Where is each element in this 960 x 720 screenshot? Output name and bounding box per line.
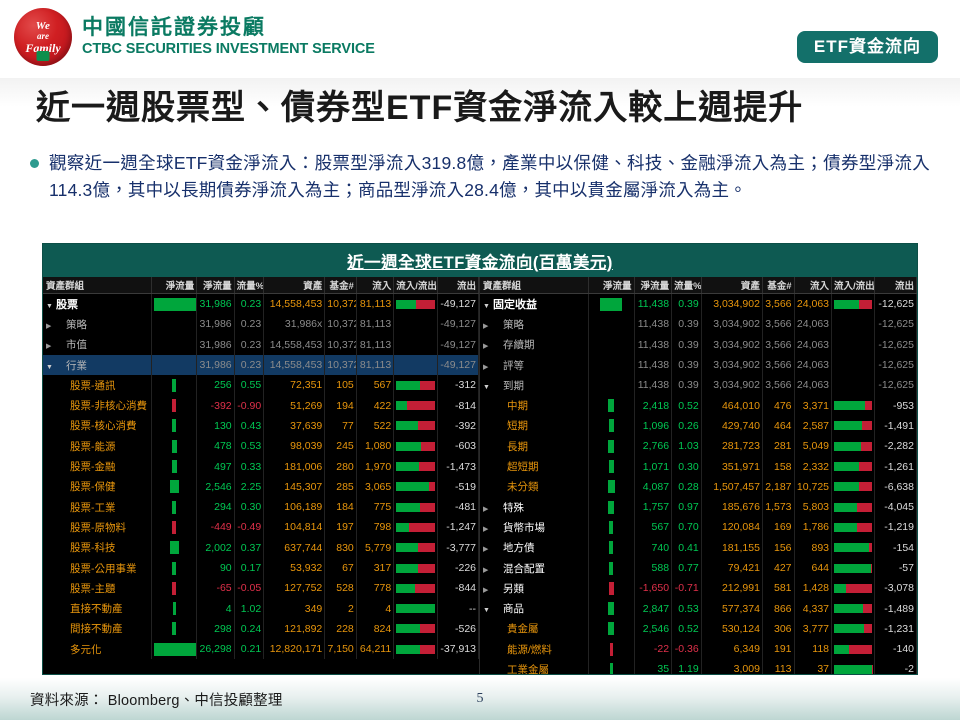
net-flow-sparkbar-cell bbox=[151, 314, 196, 334]
fund-count-value: 184 bbox=[325, 497, 357, 517]
net-flow-value: 4 bbox=[197, 598, 234, 618]
net-flow-bar bbox=[608, 501, 614, 514]
row-label-cell[interactable]: ▶存續期 bbox=[480, 335, 589, 355]
inflow-value: 24,063 bbox=[794, 355, 832, 375]
inflow-outflow-bar-cell bbox=[832, 477, 875, 497]
flow-pct-value: 0.77 bbox=[672, 558, 702, 578]
chevron-right-icon[interactable]: ▶ bbox=[46, 322, 54, 330]
fund-count-value: 10,372 bbox=[325, 335, 357, 355]
chevron-right-icon[interactable]: ▶ bbox=[483, 322, 491, 330]
row-label-cell[interactable]: 股票-公用事業 bbox=[43, 558, 151, 578]
row-label-cell[interactable]: ▶策略 bbox=[43, 314, 151, 334]
net-flow-value: 2,546 bbox=[197, 477, 234, 497]
flow-pct-value: 0.41 bbox=[672, 538, 702, 558]
inflow-outflow-bar-cell bbox=[832, 578, 875, 598]
net-flow-value: 90 bbox=[197, 558, 234, 578]
inflow-outflow-bar bbox=[834, 482, 872, 491]
inflow-segment bbox=[396, 381, 420, 390]
net-flow-sparkbar-cell bbox=[151, 335, 196, 355]
row-label: 商品 bbox=[491, 601, 524, 616]
table-row[interactable]: 短期1,0960.26429,7404642,587-1,491 bbox=[480, 416, 917, 436]
outflow-segment bbox=[415, 584, 435, 593]
outflow-value: -226 bbox=[437, 558, 478, 578]
flow-pct-value: 0.26 bbox=[672, 416, 702, 436]
row-label-cell[interactable]: 多元化 bbox=[43, 639, 151, 659]
column-header-3[interactable]: 流量% bbox=[672, 277, 702, 294]
flow-pct-value: 0.33 bbox=[234, 456, 264, 476]
fund-count-value: 427 bbox=[762, 558, 794, 578]
table-row[interactable]: 股票-保健2,5462.25145,3072853,065-519 bbox=[43, 477, 479, 497]
row-label: 短期 bbox=[483, 418, 528, 433]
table-row[interactable]: 中期2,4180.52464,0104763,371-953 bbox=[480, 395, 917, 415]
flow-pct-value: 0.37 bbox=[234, 538, 264, 558]
net-flow-bar bbox=[609, 562, 613, 575]
net-flow-sparkbar-cell bbox=[589, 578, 634, 598]
row-label-cell[interactable]: 股票-非核心消費 bbox=[43, 395, 151, 415]
net-flow-sparkbar-cell bbox=[589, 659, 634, 675]
flow-pct-value: 0.17 bbox=[234, 558, 264, 578]
column-header-1[interactable]: 淨流量 bbox=[589, 277, 634, 294]
inflow-segment bbox=[834, 523, 857, 532]
chevron-right-icon[interactable]: ▶ bbox=[46, 342, 54, 350]
outflow-value: -6,638 bbox=[875, 477, 917, 497]
table-row[interactable]: ▶另類-1,650-0.71212,9915811,428-3,078 bbox=[480, 578, 917, 598]
net-flow-value: 11,438 bbox=[634, 375, 672, 395]
column-header-5[interactable]: 基金# bbox=[762, 277, 794, 294]
column-header-4[interactable]: 資產 bbox=[701, 277, 762, 294]
chevron-right-icon[interactable]: ▶ bbox=[483, 342, 491, 350]
table-row[interactable]: 股票-科技2,0020.37637,7448305,779-3,777 bbox=[43, 538, 479, 558]
fund-count-value: 1,573 bbox=[762, 497, 794, 517]
row-label-cell[interactable]: ▶特殊 bbox=[480, 497, 589, 517]
assets-value: 577,374 bbox=[701, 598, 762, 618]
inflow-outflow-bar-cell bbox=[832, 355, 875, 375]
row-label-cell[interactable]: 未分類 bbox=[480, 477, 589, 497]
row-label: 間接不動產 bbox=[46, 621, 123, 636]
inflow-value: 5,779 bbox=[356, 538, 393, 558]
table-row[interactable]: 能源/燃料-22-0.366,349191118-140 bbox=[480, 639, 917, 659]
table-row[interactable]: 超短期1,0710.30351,9711582,332-1,261 bbox=[480, 456, 917, 476]
table-row[interactable]: ▼固定收益11,4380.393,034,9023,56624,063-12,6… bbox=[480, 294, 917, 315]
outflow-value: -57 bbox=[875, 558, 917, 578]
logo-mark-line2: are bbox=[37, 32, 49, 41]
inflow-outflow-bar-cell bbox=[394, 314, 437, 334]
inflow-outflow-bar-cell bbox=[394, 335, 437, 355]
flow-pct-value: 0.23 bbox=[234, 335, 264, 355]
page-number: 5 bbox=[0, 691, 960, 707]
row-label-cell[interactable]: 工業金屬 bbox=[480, 659, 589, 675]
flow-pct-value: 0.43 bbox=[234, 416, 264, 436]
assets-value: 3,034,902 bbox=[701, 294, 762, 315]
row-label-cell[interactable]: 股票-原物料 bbox=[43, 517, 151, 537]
outflow-value: -3,078 bbox=[875, 578, 917, 598]
inflow-segment bbox=[834, 564, 871, 573]
net-flow-value: -392 bbox=[197, 395, 234, 415]
inflow-outflow-bar-cell bbox=[832, 395, 875, 415]
column-header-6[interactable]: 流入 bbox=[794, 277, 832, 294]
chevron-right-icon[interactable]: ▶ bbox=[483, 505, 491, 513]
chevron-right-icon[interactable]: ▶ bbox=[483, 566, 491, 574]
fund-count-value: 245 bbox=[325, 436, 357, 456]
outflow-value: -12,625 bbox=[875, 335, 917, 355]
chevron-down-icon[interactable]: ▼ bbox=[46, 364, 54, 371]
flow-pct-value: 2.25 bbox=[234, 477, 264, 497]
inflow-segment bbox=[396, 564, 417, 573]
inflow-value: 824 bbox=[356, 619, 393, 639]
assets-value: 3,034,902 bbox=[701, 375, 762, 395]
net-flow-bar bbox=[170, 480, 179, 493]
outflow-segment bbox=[861, 442, 873, 451]
row-label-cell[interactable]: ▼到期 bbox=[480, 375, 589, 395]
inflow-outflow-bar-cell bbox=[394, 598, 437, 618]
outflow-segment bbox=[418, 543, 434, 552]
outflow-segment bbox=[420, 381, 435, 390]
table-row[interactable]: ▶策略11,4380.393,034,9023,56624,063-12,625 bbox=[480, 314, 917, 334]
outflow-value: -- bbox=[437, 598, 478, 618]
inflow-segment bbox=[834, 543, 869, 552]
column-header-5[interactable]: 基金# bbox=[325, 277, 357, 294]
fund-count-value: 158 bbox=[762, 456, 794, 476]
row-label-cell[interactable]: ▶市值 bbox=[43, 335, 151, 355]
inflow-outflow-bar bbox=[834, 421, 872, 430]
row-label: 股票-非核心消費 bbox=[46, 398, 147, 413]
table-row[interactable]: 股票-工業2940.30106,189184775-481 bbox=[43, 497, 479, 517]
column-header-8[interactable]: 流出 bbox=[437, 277, 478, 294]
slide-header: We are Family 中國信託證券投顧 CTBC SECURITIES I… bbox=[0, 0, 960, 78]
flow-pct-value: 0.21 bbox=[234, 639, 264, 659]
fund-count-value: 866 bbox=[762, 598, 794, 618]
outflow-value: -49,127 bbox=[437, 314, 478, 334]
row-label: 多元化 bbox=[46, 642, 102, 657]
table-row[interactable]: ▶市值31,9860.2314,558,45310,37281,113-49,1… bbox=[43, 335, 479, 355]
fund-count-value: 113 bbox=[762, 659, 794, 675]
row-label-cell[interactable]: 股票-工業 bbox=[43, 497, 151, 517]
row-label-cell[interactable]: 長期 bbox=[480, 436, 589, 456]
net-flow-sparkbar-cell bbox=[589, 355, 634, 375]
table-row[interactable]: 間接不動產2980.24121,892228824-526 bbox=[43, 619, 479, 639]
flow-pct-value: 0.39 bbox=[672, 355, 702, 375]
fund-count-value: 3,566 bbox=[762, 355, 794, 375]
chevron-right-icon[interactable]: ▶ bbox=[483, 545, 491, 553]
row-label: 地方債 bbox=[491, 540, 535, 555]
assets-value: 351,971 bbox=[701, 456, 762, 476]
row-label-cell[interactable]: ▶另類 bbox=[480, 578, 589, 598]
column-header-8[interactable]: 流出 bbox=[875, 277, 917, 294]
row-label-cell[interactable]: ▼固定收益 bbox=[480, 294, 589, 315]
column-header-4[interactable]: 資產 bbox=[264, 277, 325, 294]
table-row[interactable]: ▶評等11,4380.393,034,9023,56624,063-12,625 bbox=[480, 355, 917, 375]
outflow-value: -140 bbox=[875, 639, 917, 659]
table-row[interactable]: ▶地方債7400.41181,155156893-154 bbox=[480, 538, 917, 558]
row-label-cell[interactable]: 能源/燃料 bbox=[480, 639, 589, 659]
net-flow-sparkbar-cell bbox=[589, 416, 634, 436]
fund-count-value: 67 bbox=[325, 558, 357, 578]
outflow-value: -49,127 bbox=[437, 355, 478, 375]
assets-value: 51,269 bbox=[264, 395, 325, 415]
net-flow-value: -22 bbox=[634, 639, 672, 659]
table-row[interactable]: ▶存續期11,4380.393,034,9023,56624,063-12,62… bbox=[480, 335, 917, 355]
row-label-cell[interactable]: 短期 bbox=[480, 416, 589, 436]
net-flow-sparkbar-cell bbox=[589, 598, 634, 618]
table-row[interactable]: 股票-金融4970.33181,0062801,970-1,473 bbox=[43, 456, 479, 476]
net-flow-bar bbox=[608, 622, 614, 635]
row-label-cell[interactable]: 中期 bbox=[480, 395, 589, 415]
outflow-value: -154 bbox=[875, 538, 917, 558]
column-header-2[interactable]: 淨流量 bbox=[197, 277, 234, 294]
outflow-segment bbox=[418, 421, 434, 430]
outflow-segment bbox=[864, 624, 872, 633]
assets-value: 145,307 bbox=[264, 477, 325, 497]
outflow-segment bbox=[416, 300, 434, 309]
chevron-down-icon[interactable]: ▼ bbox=[483, 384, 491, 391]
inflow-outflow-bar bbox=[396, 543, 434, 552]
fund-count-value: 2 bbox=[325, 598, 357, 618]
table-row[interactable]: 股票-能源4780.5398,0392451,080-603 bbox=[43, 436, 479, 456]
net-flow-sparkbar-cell bbox=[589, 294, 634, 315]
chevron-right-icon[interactable]: ▶ bbox=[483, 525, 491, 533]
row-label-cell[interactable]: 股票-保健 bbox=[43, 477, 151, 497]
inflow-value: 37 bbox=[794, 659, 832, 675]
column-header-2[interactable]: 淨流量 bbox=[634, 277, 672, 294]
row-label-cell[interactable]: ▶評等 bbox=[480, 355, 589, 375]
row-label-cell[interactable]: 間接不動產 bbox=[43, 619, 151, 639]
assets-value: 121,892 bbox=[264, 619, 325, 639]
outflow-value: -844 bbox=[437, 578, 478, 598]
outflow-value: -1,231 bbox=[875, 619, 917, 639]
net-flow-sparkbar-cell bbox=[589, 639, 634, 659]
row-label: 策略 bbox=[491, 317, 524, 332]
net-flow-bar bbox=[172, 440, 177, 453]
net-flow-bar bbox=[172, 521, 176, 534]
page-title: 近一週股票型、債券型ETF資金淨流入較上週提升 bbox=[0, 78, 960, 130]
flow-pct-value: 1.02 bbox=[234, 598, 264, 618]
row-label-cell[interactable]: 股票-主題 bbox=[43, 578, 151, 598]
net-flow-value: 567 bbox=[634, 517, 672, 537]
inflow-value: 3,065 bbox=[356, 477, 393, 497]
inflow-value: 2,587 bbox=[794, 416, 832, 436]
assets-value: 181,006 bbox=[264, 456, 325, 476]
net-flow-value: 35 bbox=[634, 659, 672, 675]
outflow-value: -603 bbox=[437, 436, 478, 456]
summary-bullet-text: 觀察近一週全球ETF資金淨流入：股票型淨流入319.8億，產業中以保健、科技、金… bbox=[49, 150, 930, 204]
flow-pct-value: 0.52 bbox=[672, 395, 702, 415]
row-label: 中期 bbox=[483, 398, 528, 413]
row-label-cell[interactable]: ▼行業 bbox=[43, 355, 151, 375]
table-row[interactable]: 直接不動產41.0234924-- bbox=[43, 598, 479, 618]
row-label: 工業金屬 bbox=[483, 662, 549, 675]
net-flow-bar bbox=[609, 541, 613, 554]
table-row[interactable]: 工業金屬351.193,00911337-2 bbox=[480, 659, 917, 675]
inflow-outflow-bar-cell bbox=[394, 294, 437, 315]
row-label-cell[interactable]: 股票-能源 bbox=[43, 436, 151, 456]
inflow-value: 118 bbox=[794, 639, 832, 659]
table-row[interactable]: ▼到期11,4380.393,034,9023,56624,063-12,625 bbox=[480, 375, 917, 395]
inflow-outflow-bar bbox=[834, 624, 872, 633]
net-flow-value: 31,986 bbox=[197, 294, 234, 315]
inflow-value: 798 bbox=[356, 517, 393, 537]
inflow-outflow-bar bbox=[834, 543, 872, 552]
inflow-segment bbox=[396, 604, 434, 613]
row-label: 超短期 bbox=[483, 459, 539, 474]
inflow-value: 1,080 bbox=[356, 436, 393, 456]
row-label: 行業 bbox=[54, 358, 87, 373]
outflow-value: -1,489 bbox=[875, 598, 917, 618]
outflow-segment bbox=[859, 462, 872, 471]
chevron-right-icon[interactable]: ▶ bbox=[483, 363, 491, 371]
inflow-outflow-bar-cell bbox=[394, 456, 437, 476]
inflow-outflow-bar bbox=[396, 503, 434, 512]
table-row[interactable]: ▶策略31,9860.2331,986x10,37281,113-49,127 bbox=[43, 314, 479, 334]
net-flow-sparkbar-cell bbox=[151, 436, 196, 456]
row-label: 特殊 bbox=[491, 500, 524, 515]
table-row[interactable]: 貴金屬2,5460.52530,1243063,777-1,231 bbox=[480, 619, 917, 639]
row-label-cell[interactable]: ▶貨幣市場 bbox=[480, 517, 589, 537]
net-flow-bar bbox=[154, 298, 197, 311]
flow-pct-value: 0.30 bbox=[234, 497, 264, 517]
table-row[interactable]: 股票-主題-65-0.05127,752528778-844 bbox=[43, 578, 479, 598]
row-label: 股票-核心消費 bbox=[46, 418, 137, 433]
net-flow-sparkbar-cell bbox=[151, 355, 196, 375]
inflow-outflow-bar-cell bbox=[832, 335, 875, 355]
page-title-text: 近一週股票型、債券型ETF資金淨流入較上週提升 bbox=[0, 80, 803, 129]
inflow-segment bbox=[834, 604, 863, 613]
net-flow-sparkbar-cell bbox=[151, 558, 196, 578]
bullet-dot-icon bbox=[30, 159, 39, 168]
flow-pct-value: 0.53 bbox=[672, 598, 702, 618]
assets-value: 429,740 bbox=[701, 416, 762, 436]
outflow-value: -12,625 bbox=[875, 355, 917, 375]
assets-value: 12,820,171 bbox=[264, 639, 325, 659]
fund-count-value: 7,150 bbox=[325, 639, 357, 659]
inflow-outflow-bar bbox=[834, 300, 872, 309]
table-row[interactable]: 長期2,7661.03281,7232815,049-2,282 bbox=[480, 436, 917, 456]
outflow-segment bbox=[863, 604, 872, 613]
net-flow-value: 2,418 bbox=[634, 395, 672, 415]
net-flow-sparkbar-cell bbox=[589, 538, 634, 558]
row-label-cell[interactable]: 貴金屬 bbox=[480, 619, 589, 639]
inflow-outflow-bar-cell bbox=[832, 314, 875, 334]
table-row[interactable]: 股票-公用事業900.1753,93267317-226 bbox=[43, 558, 479, 578]
row-label-cell[interactable]: 股票-通訊 bbox=[43, 375, 151, 395]
outflow-value: -49,127 bbox=[437, 294, 478, 315]
flow-pct-value: 0.52 bbox=[672, 619, 702, 639]
inflow-outflow-bar bbox=[834, 523, 872, 532]
inflow-value: 1,428 bbox=[794, 578, 832, 598]
inflow-segment bbox=[396, 543, 418, 552]
inflow-outflow-bar bbox=[834, 564, 872, 573]
row-label-cell[interactable]: ▶混合配置 bbox=[480, 558, 589, 578]
net-flow-value: 1,757 bbox=[634, 497, 672, 517]
table-row[interactable]: 股票-非核心消費-392-0.9051,269194422-814 bbox=[43, 395, 479, 415]
outflow-segment bbox=[419, 462, 434, 471]
outflow-value: -12,625 bbox=[875, 294, 917, 315]
inflow-outflow-bar-cell bbox=[832, 456, 875, 476]
inflow-segment bbox=[396, 462, 419, 471]
inflow-outflow-bar-cell bbox=[832, 517, 875, 537]
net-flow-sparkbar-cell bbox=[589, 477, 634, 497]
row-label-cell[interactable]: ▼股票 bbox=[43, 294, 151, 315]
inflow-segment bbox=[834, 442, 861, 451]
row-label-cell[interactable]: ▼商品 bbox=[480, 598, 589, 618]
table-row[interactable]: 多元化26,2980.2112,820,1717,15064,211-37,91… bbox=[43, 639, 479, 659]
column-header-7[interactable]: 流入/流出 bbox=[832, 277, 875, 294]
inflow-segment bbox=[396, 624, 420, 633]
table-row[interactable]: 股票-通訊2560.5572,351105567-312 bbox=[43, 375, 479, 395]
row-label-cell[interactable]: 股票-核心消費 bbox=[43, 416, 151, 436]
inflow-outflow-bar-cell bbox=[394, 375, 437, 395]
column-header-6[interactable]: 流入 bbox=[356, 277, 393, 294]
table-row[interactable]: ▼商品2,8470.53577,3748664,337-1,489 bbox=[480, 598, 917, 618]
row-label: 股票-能源 bbox=[46, 439, 116, 454]
net-flow-sparkbar-cell bbox=[589, 517, 634, 537]
table-row[interactable]: 股票-原物料-449-0.49104,814197798-1,247 bbox=[43, 517, 479, 537]
table-row[interactable]: ▼行業31,9860.2314,558,45310,37281,113-49,1… bbox=[43, 355, 479, 375]
column-header-7[interactable]: 流入/流出 bbox=[394, 277, 437, 294]
net-flow-sparkbar-cell bbox=[589, 456, 634, 476]
column-header-0[interactable]: 資產群組 bbox=[43, 277, 151, 294]
assets-value: 14,558,453 bbox=[264, 355, 325, 375]
chevron-right-icon[interactable]: ▶ bbox=[483, 586, 491, 594]
table-row[interactable]: ▶貨幣市場5670.70120,0841691,786-1,219 bbox=[480, 517, 917, 537]
outflow-segment bbox=[872, 665, 873, 674]
table-row[interactable]: ▶特殊1,7570.97185,6761,5735,803-4,045 bbox=[480, 497, 917, 517]
inflow-segment bbox=[834, 401, 865, 410]
inflow-segment bbox=[834, 624, 864, 633]
outflow-segment bbox=[420, 624, 435, 633]
table-row[interactable]: 股票-核心消費1300.4337,63977522-392 bbox=[43, 416, 479, 436]
inflow-outflow-bar-cell bbox=[832, 598, 875, 618]
chevron-down-icon[interactable]: ▼ bbox=[483, 607, 491, 614]
flow-pct-value: 0.53 bbox=[234, 436, 264, 456]
row-label-cell[interactable]: ▶策略 bbox=[480, 314, 589, 334]
net-flow-value: 497 bbox=[197, 456, 234, 476]
outflow-segment bbox=[857, 503, 872, 512]
inflow-outflow-bar bbox=[396, 564, 434, 573]
column-header-0[interactable]: 資產群組 bbox=[480, 277, 589, 294]
outflow-value: -481 bbox=[437, 497, 478, 517]
inflow-segment bbox=[834, 645, 849, 654]
net-flow-value: -1,650 bbox=[634, 578, 672, 598]
table-row[interactable]: ▼股票31,9860.2314,558,45310,37281,113-49,1… bbox=[43, 294, 479, 315]
inflow-value: 522 bbox=[356, 416, 393, 436]
net-flow-bar bbox=[608, 399, 614, 412]
chevron-down-icon[interactable]: ▼ bbox=[46, 303, 54, 310]
inflow-value: 81,113 bbox=[356, 314, 393, 334]
inflow-value: 5,803 bbox=[794, 497, 832, 517]
net-flow-sparkbar-cell bbox=[589, 619, 634, 639]
fund-count-value: 3,566 bbox=[762, 314, 794, 334]
table-row[interactable]: ▶混合配置5880.7779,421427644-57 bbox=[480, 558, 917, 578]
net-flow-value: -449 bbox=[197, 517, 234, 537]
row-label-cell[interactable]: 超短期 bbox=[480, 456, 589, 476]
column-header-3[interactable]: 流量% bbox=[234, 277, 264, 294]
chevron-down-icon[interactable]: ▼ bbox=[483, 303, 491, 310]
row-label-cell[interactable]: 股票-金融 bbox=[43, 456, 151, 476]
row-label: 市值 bbox=[54, 337, 87, 352]
column-header-1[interactable]: 淨流量 bbox=[151, 277, 196, 294]
net-flow-bar bbox=[154, 643, 196, 656]
flow-pct-value: -0.49 bbox=[234, 517, 264, 537]
inflow-outflow-bar-cell bbox=[394, 477, 437, 497]
net-flow-sparkbar-cell bbox=[589, 497, 634, 517]
table-row[interactable]: 未分類4,0870.281,507,4572,18710,725-6,638 bbox=[480, 477, 917, 497]
row-label-cell[interactable]: 直接不動產 bbox=[43, 598, 151, 618]
row-label-cell[interactable]: 股票-科技 bbox=[43, 538, 151, 558]
assets-value: 3,034,902 bbox=[701, 335, 762, 355]
fund-count-value: 3,566 bbox=[762, 294, 794, 315]
fund-count-value: 105 bbox=[325, 375, 357, 395]
row-label-cell[interactable]: ▶地方債 bbox=[480, 538, 589, 558]
